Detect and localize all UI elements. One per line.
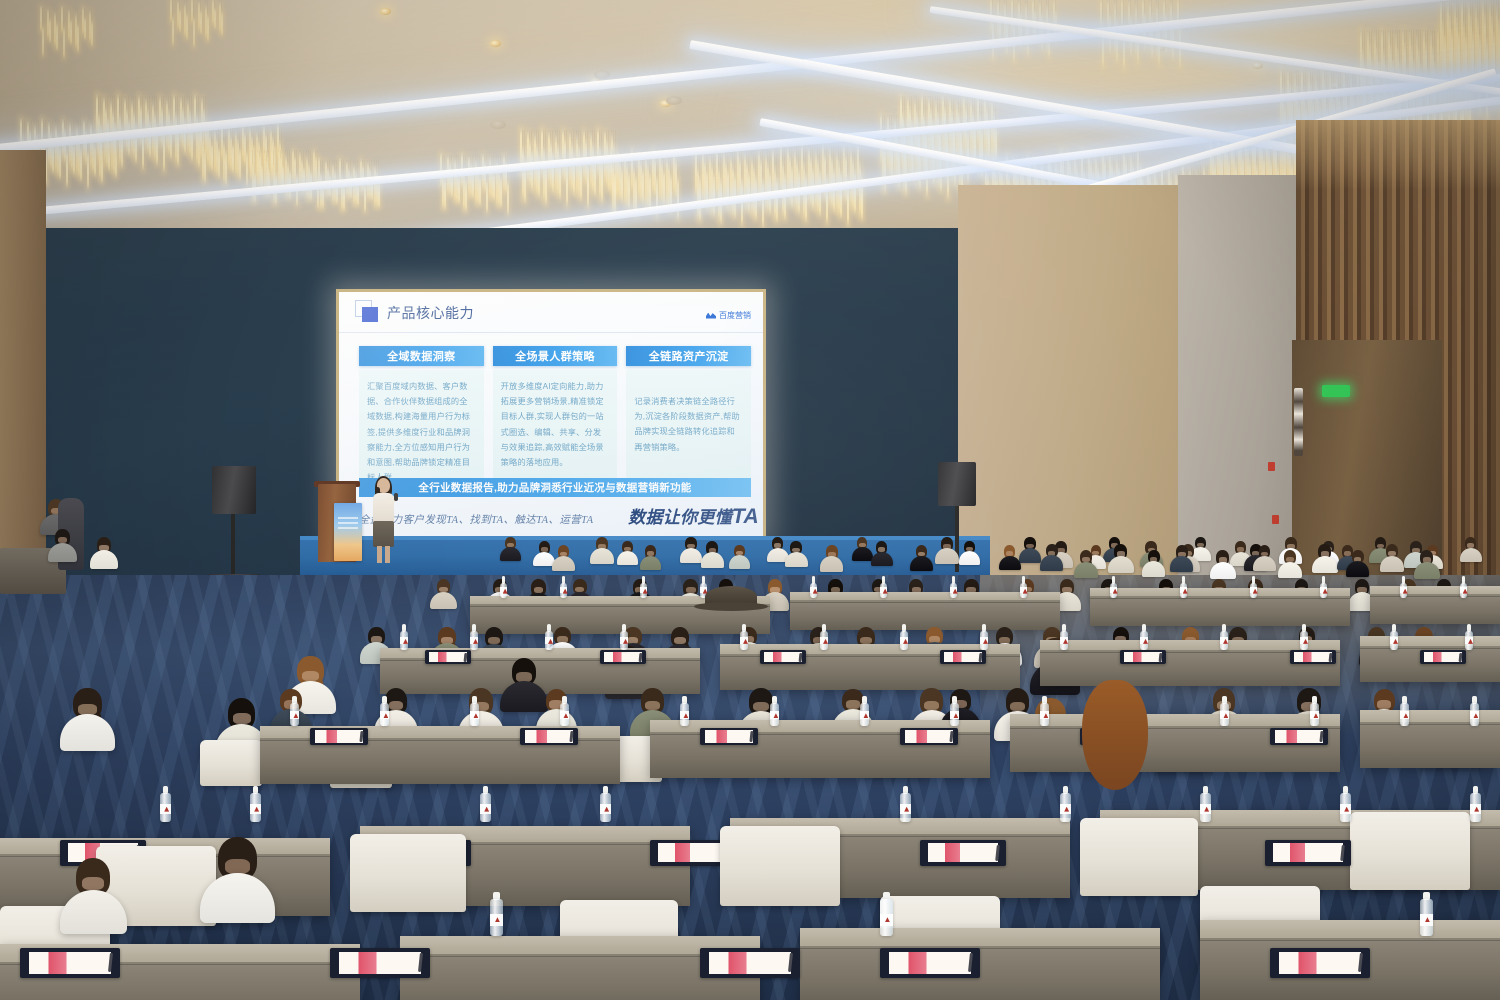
- light-rod: [621, 168, 623, 203]
- note-sheet: [1294, 652, 1332, 662]
- suspension-wire: [172, 0, 173, 16]
- torso: [60, 714, 115, 750]
- suspension-wire: [812, 145, 813, 167]
- suspension-wire: [281, 125, 282, 149]
- note-sheet: [1124, 652, 1162, 662]
- notepad: [425, 650, 471, 664]
- water-bottle: [860, 696, 869, 726]
- suspension-wire: [896, 115, 897, 129]
- suspension-wire: [126, 96, 127, 108]
- suspension-wire: [1376, 30, 1377, 48]
- torso: [1278, 562, 1302, 578]
- suspension-wire: [1041, 0, 1042, 14]
- suspension-wire: [149, 96, 150, 120]
- suspension-wire: [1404, 30, 1405, 42]
- suspension-wire: [847, 145, 848, 175]
- bottle-label: [620, 637, 628, 644]
- suspension-wire: [944, 96, 945, 106]
- suspension-wire: [163, 96, 164, 127]
- suspension-wire: [289, 150, 290, 170]
- torso: [1142, 561, 1165, 576]
- column-heading: 全域数据洞察: [359, 346, 484, 366]
- speaker-stand: [231, 514, 235, 576]
- chandelier-cluster: [96, 96, 208, 188]
- suspension-wire: [1362, 30, 1363, 50]
- suspension-wire: [84, 8, 85, 17]
- bottle-label: [1465, 637, 1473, 644]
- suspension-wire: [776, 150, 777, 176]
- suspension-wire: [791, 145, 792, 166]
- bottle-label: [1020, 587, 1027, 593]
- notepad: [1265, 840, 1351, 866]
- suspension-wire: [273, 150, 274, 165]
- bottle-label: [560, 587, 567, 593]
- water-bottle: [680, 696, 689, 726]
- suspension-wire: [1123, 0, 1124, 22]
- suspension-wire: [732, 150, 733, 164]
- torso: [1074, 562, 1098, 578]
- water-bottle: [380, 696, 389, 726]
- light-rod: [493, 172, 495, 201]
- suspension-wire: [1484, 0, 1485, 13]
- suspension-wire: [1449, 0, 1450, 15]
- suspension-wire: [531, 130, 532, 151]
- light-rod: [42, 25, 44, 58]
- bottle-label: [500, 587, 507, 593]
- suspension-wire: [1317, 70, 1318, 87]
- suspension-wire: [557, 130, 558, 144]
- suspension-wire: [348, 160, 349, 168]
- suspension-wire: [1397, 30, 1398, 48]
- suspension-wire: [1406, 30, 1407, 67]
- suspension-wire: [1477, 0, 1478, 19]
- slide-banner: 全行业数据报告,助力品牌洞悉行业近况与数据营销新功能: [359, 478, 751, 497]
- light-rod: [762, 179, 764, 230]
- bottle-label: [1220, 637, 1228, 644]
- audience-member: [617, 542, 638, 565]
- bottle-label: [480, 804, 491, 814]
- suspension-wire: [105, 96, 106, 107]
- torso: [1210, 562, 1236, 579]
- suspension-wire: [1191, 165, 1192, 175]
- suspension-wire: [1289, 70, 1290, 83]
- light-rod: [826, 174, 828, 226]
- bottle-label: [400, 637, 408, 644]
- suspension-wire: [576, 130, 577, 135]
- light-rod: [66, 149, 68, 189]
- suspension-wire: [836, 145, 837, 150]
- suspension-wire: [1378, 30, 1379, 62]
- suspension-wire: [930, 96, 931, 108]
- suspension-wire: [720, 150, 721, 177]
- suspension-wire: [840, 145, 841, 171]
- torso: [90, 550, 118, 568]
- suspension-wire: [755, 150, 756, 175]
- light-rod: [713, 173, 715, 218]
- torso: [729, 555, 750, 569]
- water-bottle: [1060, 624, 1068, 650]
- notepad: [880, 948, 980, 978]
- suspension-wire: [889, 115, 890, 126]
- bottle-label: [1110, 587, 1117, 593]
- suspension-wire: [956, 96, 957, 101]
- suspension-wire: [135, 96, 136, 123]
- light-rod: [84, 17, 86, 41]
- suspension-wire: [536, 130, 537, 144]
- suspension-wire: [727, 150, 728, 170]
- water-bottle: [1465, 624, 1473, 650]
- audience-member: [852, 538, 873, 561]
- note-sheet: [764, 652, 802, 662]
- water-bottle: [545, 624, 553, 650]
- audience-member: [680, 538, 703, 563]
- light-rod: [614, 174, 616, 216]
- light-rod: [221, 11, 223, 37]
- ceiling-plate: [666, 96, 682, 105]
- suspension-wire: [133, 96, 134, 111]
- suspension-wire: [753, 150, 754, 165]
- bottle-label: [290, 711, 299, 719]
- chandelier-cluster: [170, 0, 226, 56]
- light-rod: [114, 122, 116, 163]
- suspension-wire: [274, 125, 275, 146]
- bottle-label: [160, 804, 171, 814]
- presenter-skirt: [373, 521, 394, 547]
- torso: [48, 543, 77, 562]
- suspension-wire: [49, 8, 50, 18]
- audience-member: [1278, 551, 1302, 578]
- suspension-wire: [246, 125, 247, 151]
- suspension-wire: [1432, 30, 1433, 47]
- suspension-wire: [258, 125, 259, 139]
- suspension-wire: [762, 150, 763, 179]
- water-bottle: [490, 892, 503, 936]
- suspension-wire: [529, 130, 530, 140]
- water-bottle: [950, 696, 959, 726]
- bottle-label: [1470, 804, 1481, 814]
- torso: [1040, 555, 1063, 570]
- suspension-wire: [1399, 30, 1400, 63]
- chandelier-cluster: [318, 160, 381, 226]
- note-sheet: [525, 730, 573, 743]
- torso: [500, 547, 521, 561]
- torso: [640, 556, 662, 570]
- pen-icon: [1340, 845, 1345, 861]
- bottle-label: [1310, 711, 1319, 719]
- light-rod: [364, 182, 366, 214]
- bottle-label: [1460, 587, 1467, 593]
- suspension-wire: [741, 150, 742, 178]
- suspension-wire: [859, 145, 860, 161]
- torso: [1460, 548, 1482, 562]
- chair: [1350, 812, 1470, 890]
- logo-label: 百度营销: [719, 310, 751, 321]
- pen-icon: [570, 731, 574, 742]
- suspension-wire: [1034, 0, 1035, 11]
- suspension-wire: [1282, 70, 1283, 89]
- audience-member: [1414, 551, 1440, 579]
- light-rod: [642, 169, 644, 205]
- suspension-wire: [1151, 0, 1152, 16]
- suspension-wire: [376, 160, 377, 172]
- note-sheet: [705, 730, 753, 743]
- suspension-wire: [491, 155, 492, 164]
- suspension-wire: [1340, 70, 1341, 102]
- torso: [590, 548, 613, 563]
- suspension-wire: [1055, 0, 1056, 11]
- audience-member: [935, 538, 958, 564]
- suspension-wire: [294, 150, 295, 156]
- water-bottle: [1400, 696, 1409, 726]
- light-rod: [531, 151, 533, 192]
- suspension-wire: [50, 120, 51, 131]
- water-bottle: [1040, 696, 1049, 726]
- water-bottle: [500, 576, 507, 598]
- torso: [820, 556, 843, 571]
- square-solid-icon: [362, 307, 378, 322]
- torso: [935, 548, 958, 563]
- torso: [1108, 556, 1134, 573]
- column-heading: 全场景人群策略: [493, 346, 618, 366]
- presenter-leg: [377, 546, 382, 563]
- suspension-wire: [63, 8, 64, 26]
- water-bottle: [1400, 576, 1407, 598]
- capability-column: 全域数据洞察 汇聚百度域内数据、客户数据、合作伙伴数据组成的全域数据,构建海量用…: [359, 346, 484, 494]
- water-bottle: [1460, 576, 1467, 598]
- suspension-wire: [522, 130, 523, 146]
- light-rod: [458, 174, 460, 205]
- audience-member: [1460, 538, 1482, 562]
- note-sheet: [905, 730, 953, 743]
- suspension-wire: [267, 125, 268, 152]
- torso: [552, 556, 575, 571]
- note-sheet: [1279, 952, 1361, 974]
- suspension-wire: [538, 130, 539, 154]
- suspension-wire: [1027, 0, 1028, 17]
- suspension-wire: [852, 145, 853, 158]
- suspension-wire: [1472, 0, 1473, 31]
- suspension-wire: [1496, 0, 1497, 5]
- suspension-wire: [119, 96, 120, 114]
- audience-member: [701, 542, 724, 568]
- water-bottle: [900, 786, 911, 822]
- bottle-label: [640, 587, 647, 593]
- notepad: [700, 948, 800, 978]
- suspension-wire: [854, 145, 855, 169]
- pen-icon: [1329, 652, 1333, 661]
- water-bottle: [900, 624, 908, 650]
- bottle-label: [770, 711, 779, 719]
- suspension-wire: [306, 150, 307, 155]
- suspension-wire: [259, 150, 260, 157]
- suspension-wire: [207, 0, 208, 14]
- torso: [871, 552, 893, 566]
- torso: [1346, 561, 1369, 576]
- bottle-label: [950, 587, 957, 593]
- water-bottle: [1470, 786, 1481, 822]
- audience-member: [785, 542, 808, 567]
- torso: [999, 556, 1021, 570]
- suspension-wire: [253, 125, 254, 145]
- suspension-wire: [303, 150, 304, 167]
- suspension-wire: [748, 150, 749, 171]
- table-edge-shadow: [800, 946, 1160, 949]
- conference-table: [1360, 710, 1500, 768]
- water-bottle: [770, 696, 779, 726]
- torso: [1170, 556, 1193, 571]
- suspension-wire: [449, 155, 450, 162]
- slide-content: 产品核心能力 百度营销 全域数据洞察 汇聚百度域内数据、客户数据、合作伙伴数据组…: [339, 292, 763, 536]
- suspension-wire: [826, 145, 827, 174]
- notepad: [900, 728, 958, 745]
- suspension-wire: [838, 145, 839, 160]
- note-sheet: [604, 652, 642, 662]
- podium-banner: [334, 503, 362, 561]
- light-rod: [677, 177, 679, 222]
- microphone-icon: [394, 493, 398, 501]
- suspension-wire: [357, 160, 358, 179]
- suspension-wire: [260, 125, 261, 149]
- light-rod: [239, 148, 241, 182]
- suspension-wire: [442, 155, 443, 169]
- suspension-wire: [784, 145, 785, 172]
- water-bottle: [620, 624, 628, 650]
- bottle-label: [470, 637, 478, 644]
- light-rod: [63, 26, 65, 60]
- table-edge-shadow: [1090, 596, 1350, 599]
- head: [82, 877, 104, 891]
- suspension-wire: [152, 96, 153, 101]
- suspension-wire: [902, 96, 903, 114]
- audience-member: [729, 546, 750, 569]
- table-skirt: [790, 602, 1060, 630]
- suspension-wire: [1390, 30, 1391, 45]
- bottle-label: [680, 711, 689, 719]
- torso: [1380, 556, 1404, 572]
- audience-member: [1312, 545, 1338, 573]
- pen-icon: [464, 652, 468, 661]
- note-sheet: [315, 730, 363, 743]
- light-rod: [1472, 31, 1474, 109]
- bottle-label: [1040, 711, 1049, 719]
- note-sheet: [339, 952, 421, 974]
- bottle-label: [980, 637, 988, 644]
- suspension-wire: [205, 96, 206, 119]
- suspension-wire: [1046, 0, 1047, 5]
- pen-icon: [799, 652, 803, 661]
- suspension-wire: [1444, 0, 1445, 36]
- suspension-wire: [1109, 0, 1110, 14]
- suspension-wire: [1179, 0, 1180, 21]
- suspension-wire: [268, 150, 269, 169]
- suspension-wire: [960, 96, 961, 125]
- suspension-wire: [1156, 0, 1157, 5]
- light-rod: [59, 145, 61, 181]
- suspension-wire: [221, 0, 222, 11]
- ponytail-foreground: [1082, 680, 1148, 790]
- suspension-wire: [112, 96, 113, 110]
- suspension-wire: [925, 96, 926, 127]
- suspension-wire: [71, 120, 72, 132]
- suspension-wire: [1144, 0, 1145, 13]
- note-sheet: [29, 952, 111, 974]
- suspension-wire: [1303, 70, 1304, 90]
- chandelier-cluster: [610, 150, 680, 234]
- bottle-label: [950, 711, 959, 719]
- suspension-wire: [1331, 70, 1332, 84]
- head: [389, 701, 404, 710]
- suspension-wire: [1427, 30, 1428, 68]
- suspension-wire: [36, 120, 37, 134]
- light-rod: [232, 144, 234, 174]
- suspension-wire: [189, 96, 190, 110]
- suspension-wire: [1369, 30, 1370, 44]
- suspension-wire: [98, 96, 99, 113]
- bottle-label: [470, 711, 479, 719]
- table-edge-shadow: [1360, 646, 1500, 649]
- suspension-wire: [543, 130, 544, 147]
- suspension-wire: [193, 0, 194, 17]
- exit-sign: [1322, 385, 1350, 397]
- water-bottle: [560, 576, 567, 598]
- suspension-wire: [1338, 70, 1339, 88]
- chandelier-cluster: [520, 130, 618, 224]
- light-rod: [91, 20, 93, 48]
- presenter: [368, 478, 398, 564]
- suspension-wire: [760, 150, 761, 158]
- light-rod: [172, 16, 174, 47]
- torso: [1253, 556, 1276, 571]
- column-body-text: 开放多维度AI定向能力,助力拓展更多营销场景,精准锁定目标人群,实现人群包的一站…: [493, 370, 618, 479]
- suspension-wire: [1324, 70, 1325, 81]
- suspension-wire: [191, 96, 192, 122]
- baidu-bear-icon: [706, 311, 716, 321]
- light-rod: [1116, 18, 1118, 64]
- note-sheet: [944, 652, 982, 662]
- suspension-wire: [296, 150, 297, 174]
- light-rod: [87, 150, 89, 191]
- light-rod: [77, 23, 79, 54]
- light-rod: [840, 171, 842, 220]
- suspension-wire: [1413, 30, 1414, 61]
- water-bottle: [1140, 624, 1148, 650]
- table-skirt: [1090, 598, 1350, 626]
- chandelier-cluster: [40, 8, 96, 68]
- header-divider: [339, 332, 763, 333]
- suspension-wire: [287, 150, 288, 162]
- light-rod: [1284, 102, 1286, 172]
- water-bottle: [160, 786, 171, 822]
- suspension-wire: [57, 120, 58, 134]
- suspension-wire: [170, 96, 171, 121]
- light-rod: [819, 170, 821, 218]
- suspension-wire: [322, 160, 323, 180]
- notepad: [1420, 650, 1466, 664]
- suspension-wire: [484, 155, 485, 161]
- notepad: [1120, 650, 1166, 664]
- water-bottle: [600, 786, 611, 822]
- suspension-wire: [22, 120, 23, 136]
- suspension-wire: [374, 160, 375, 165]
- pen-icon: [1358, 953, 1363, 972]
- water-bottle: [560, 696, 569, 726]
- suspension-wire: [91, 8, 92, 20]
- pen-icon: [639, 652, 643, 661]
- bottle-label: [1320, 587, 1327, 593]
- water-bottle: [640, 576, 647, 598]
- audience-member: [1019, 538, 1042, 563]
- downlight-icon: [1252, 62, 1263, 69]
